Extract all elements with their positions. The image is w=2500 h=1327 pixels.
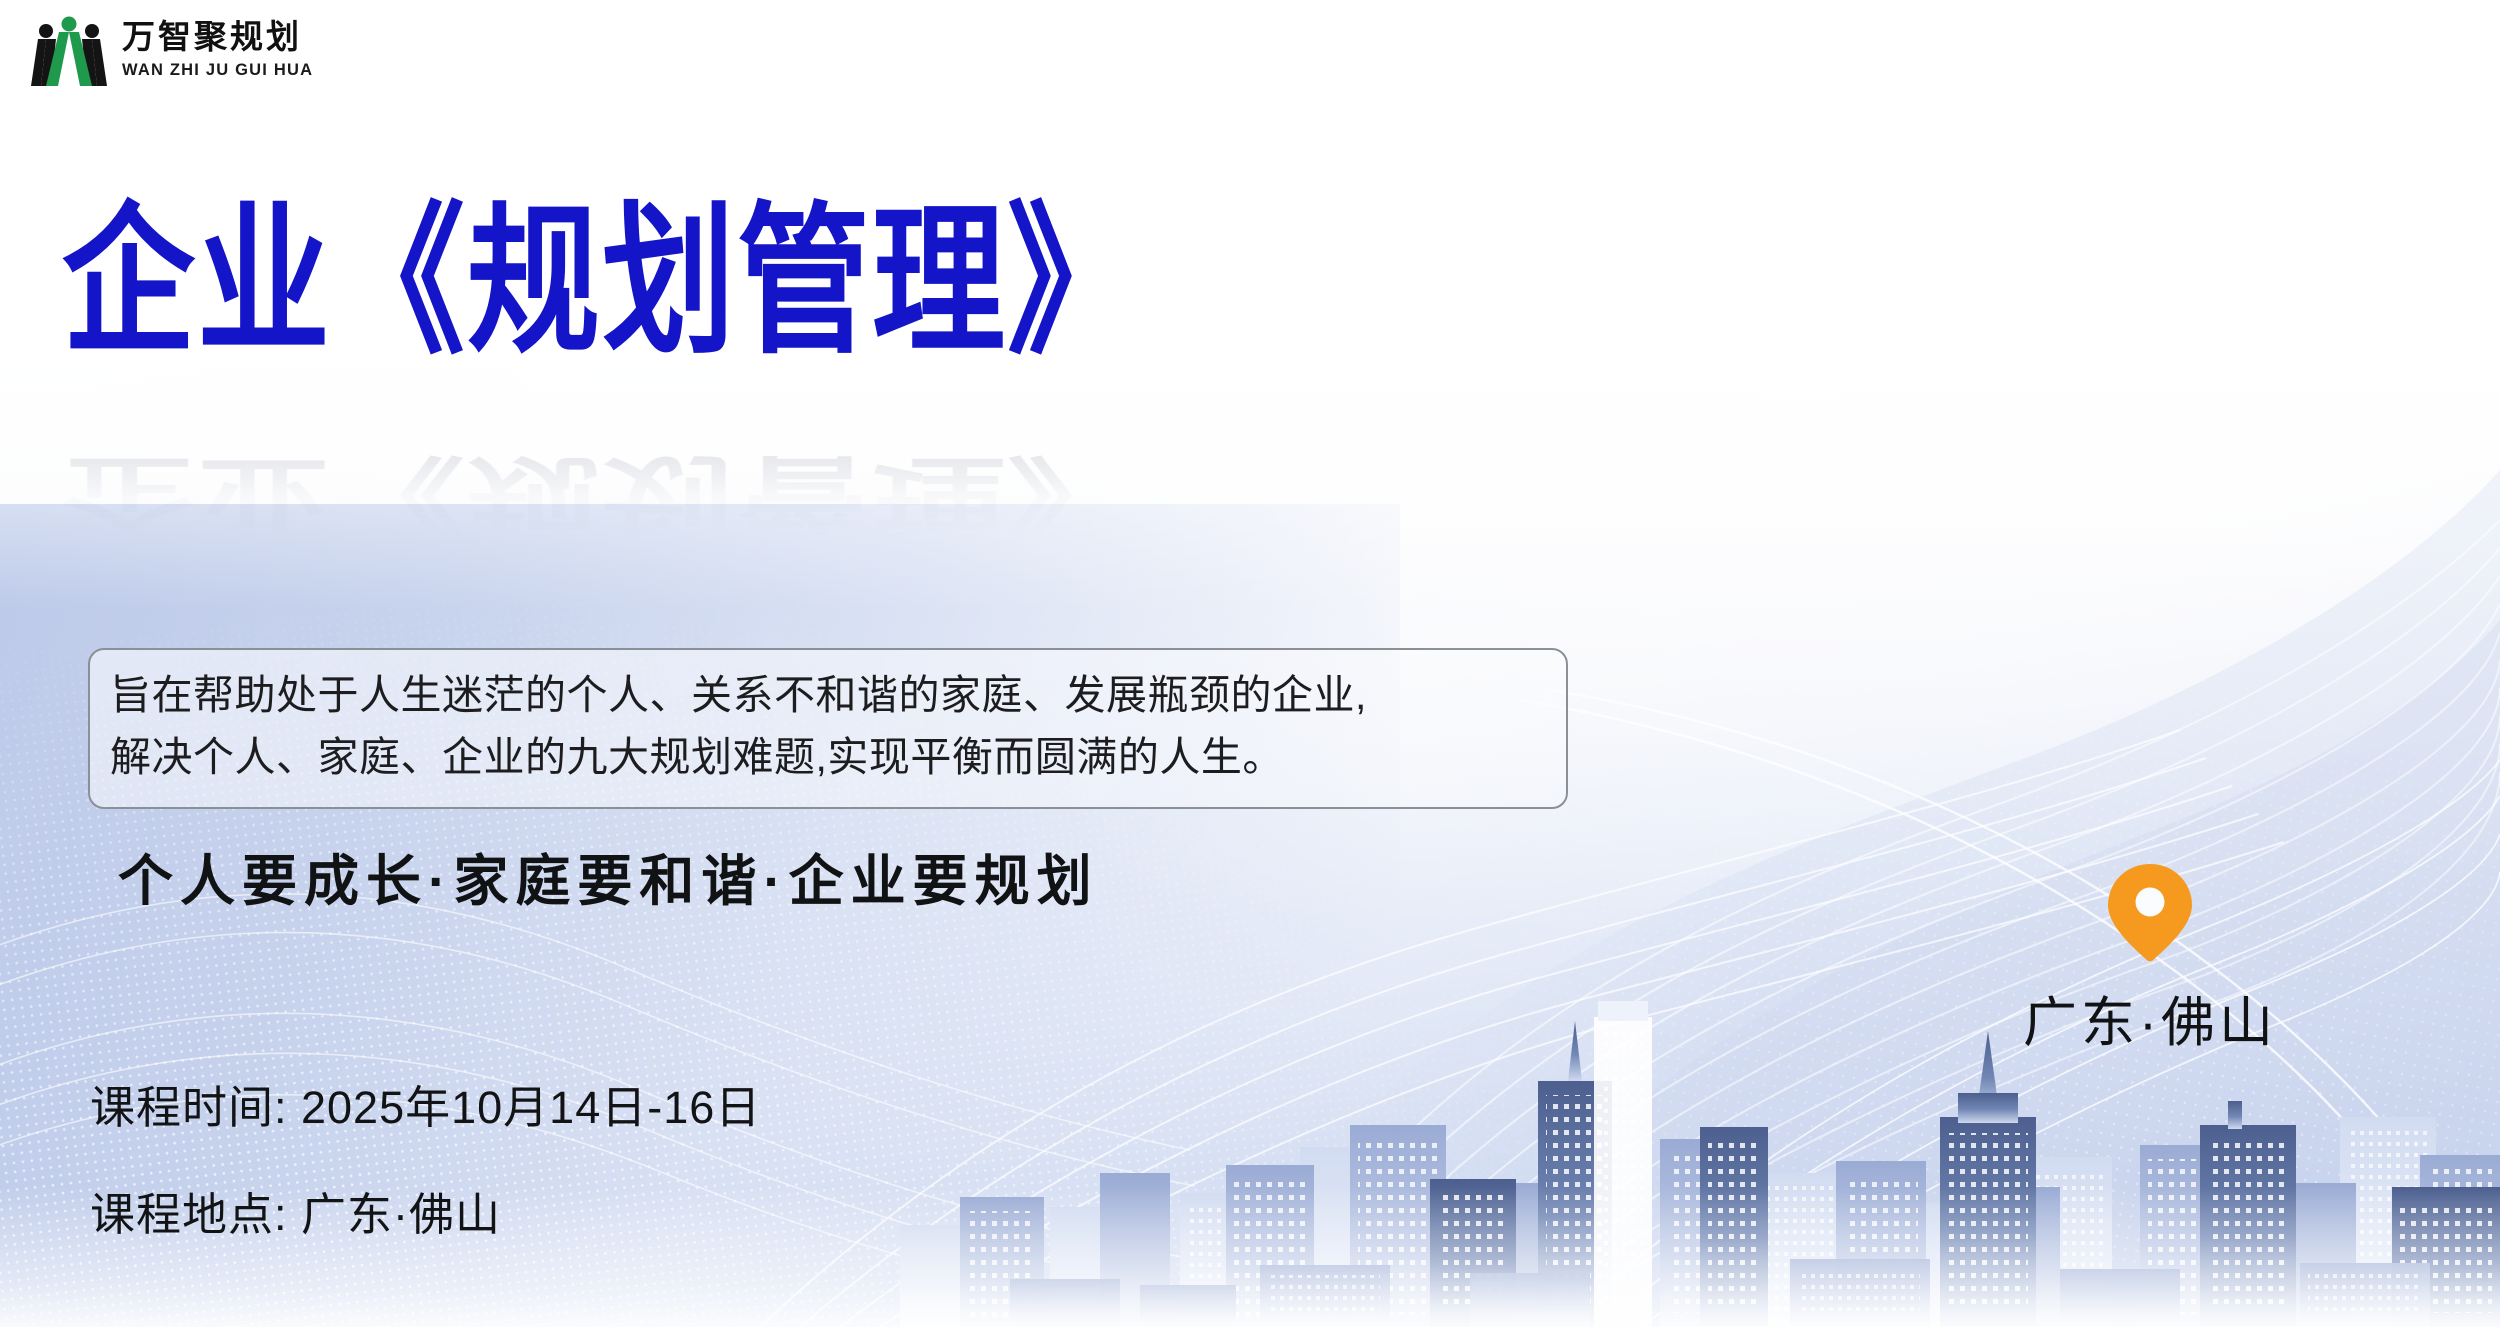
poster-title-block: 企业《规划管理》 企业《规划管理》 — [62, 196, 1142, 340]
page-title: 企业《规划管理》 — [62, 196, 1142, 371]
course-time: 课程时间: 2025年10月14日-16日 — [90, 1071, 761, 1136]
course-info-block: 课程时间: 2025年10月14日-16日 课程地点: 广东·佛山 — [90, 1071, 761, 1243]
brand-name-pinyin: WAN ZHI JU GUI HUA — [122, 62, 313, 79]
description-box: 旨在帮助处于人生迷茫的个人、关系不和谐的家庭、发展瓶颈的企业, 解决个人、家庭、… — [88, 648, 1568, 809]
location-badge: 广东·佛山 — [1960, 862, 2340, 1057]
description-line-1: 旨在帮助处于人生迷茫的个人、关系不和谐的家庭、发展瓶颈的企业, — [110, 664, 1544, 726]
poster-canvas: 万智聚规划 WAN ZHI JU GUI HUA 企业《规划管理》 企业《规划管… — [0, 0, 2500, 1327]
location-badge-label: 广东·佛山 — [1960, 978, 2340, 1057]
page-title-reflection: 企业《规划管理》 — [62, 447, 1142, 536]
three-people-logo-icon — [30, 14, 108, 86]
course-place: 课程地点: 广东·佛山 — [90, 1178, 761, 1243]
brand-logo: 万智聚规划 WAN ZHI JU GUI HUA — [30, 14, 313, 86]
brand-name-cn: 万智聚规划 — [122, 22, 313, 55]
map-pin-icon — [2106, 862, 2194, 962]
brand-logo-text: 万智聚规划 WAN ZHI JU GUI HUA — [122, 22, 313, 79]
description-line-2: 解决个人、家庭、企业的九大规划难题,实现平衡而圆满的人生。 — [110, 726, 1544, 788]
slogan-text: 个人要成长·家庭要和谐·企业要规划 — [118, 836, 1099, 916]
